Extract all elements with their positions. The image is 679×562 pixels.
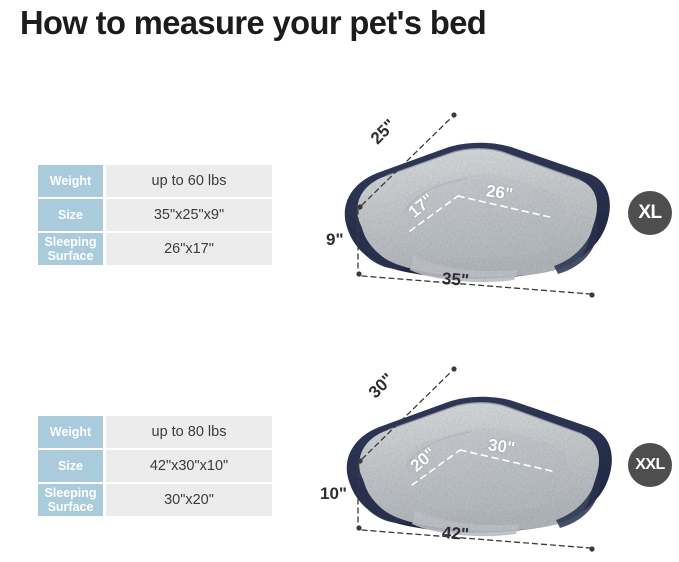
table-row: Size 42"x30"x10" — [38, 450, 272, 482]
page-title: How to measure your pet's bed — [20, 2, 659, 44]
row-label-size: Size — [38, 450, 103, 482]
row-label-weight: Weight — [38, 416, 103, 448]
row-value-weight: up to 80 lbs — [106, 416, 272, 448]
dimension-label-inner-width-xl: 26" — [485, 181, 515, 205]
row-value-weight: up to 60 lbs — [106, 165, 272, 197]
pet-bed-illustration-xl: 25" 9" 35" 17" 26" — [318, 96, 618, 301]
size-badge-xl: XL — [628, 191, 672, 235]
spec-table-xl: Weight up to 60 lbs Size 35"x25"x9" Slee… — [38, 165, 272, 265]
table-row: Sleeping Surface 26"x17" — [38, 233, 272, 265]
row-label-sleeping-surface: Sleeping Surface — [38, 233, 103, 265]
dimension-label-inner-width-xxl: 30" — [487, 435, 517, 459]
table-row: Sleeping Surface 30"x20" — [38, 484, 272, 516]
table-row: Weight up to 80 lbs — [38, 416, 272, 448]
row-label-weight: Weight — [38, 165, 103, 197]
row-label-text: Weight — [50, 174, 91, 188]
row-label-text-line1: Sleeping — [44, 235, 96, 249]
dimension-label-height-xl: 9" — [326, 230, 344, 250]
row-value-size: 35"x25"x9" — [106, 199, 272, 231]
dimension-label-width-xxl: 42" — [441, 523, 469, 545]
size-badge-xxl: XXL — [628, 443, 672, 487]
spec-table-xxl: Weight up to 80 lbs Size 42"x30"x10" Sle… — [38, 416, 272, 516]
pet-bed-illustration-xxl: 30" 10" 42" 20" 30" — [318, 348, 618, 555]
row-value-sleeping-surface: 26"x17" — [106, 233, 272, 265]
table-row: Size 35"x25"x9" — [38, 199, 272, 231]
row-label-text: Size — [58, 208, 83, 222]
row-label-sleeping-surface: Sleeping Surface — [38, 484, 103, 516]
row-label-text: Weight — [50, 425, 91, 439]
row-label-text-line2: Surface — [48, 500, 94, 514]
row-label-text-line2: Surface — [48, 249, 94, 263]
row-label-text-line1: Sleeping — [44, 486, 96, 500]
row-value-sleeping-surface: 30"x20" — [106, 484, 272, 516]
dimension-label-height-xxl: 10" — [320, 484, 347, 504]
table-row: Weight up to 60 lbs — [38, 165, 272, 197]
row-label-size: Size — [38, 199, 103, 231]
dimension-label-width-xl: 35" — [441, 269, 469, 291]
row-label-text: Size — [58, 459, 83, 473]
row-value-size: 42"x30"x10" — [106, 450, 272, 482]
